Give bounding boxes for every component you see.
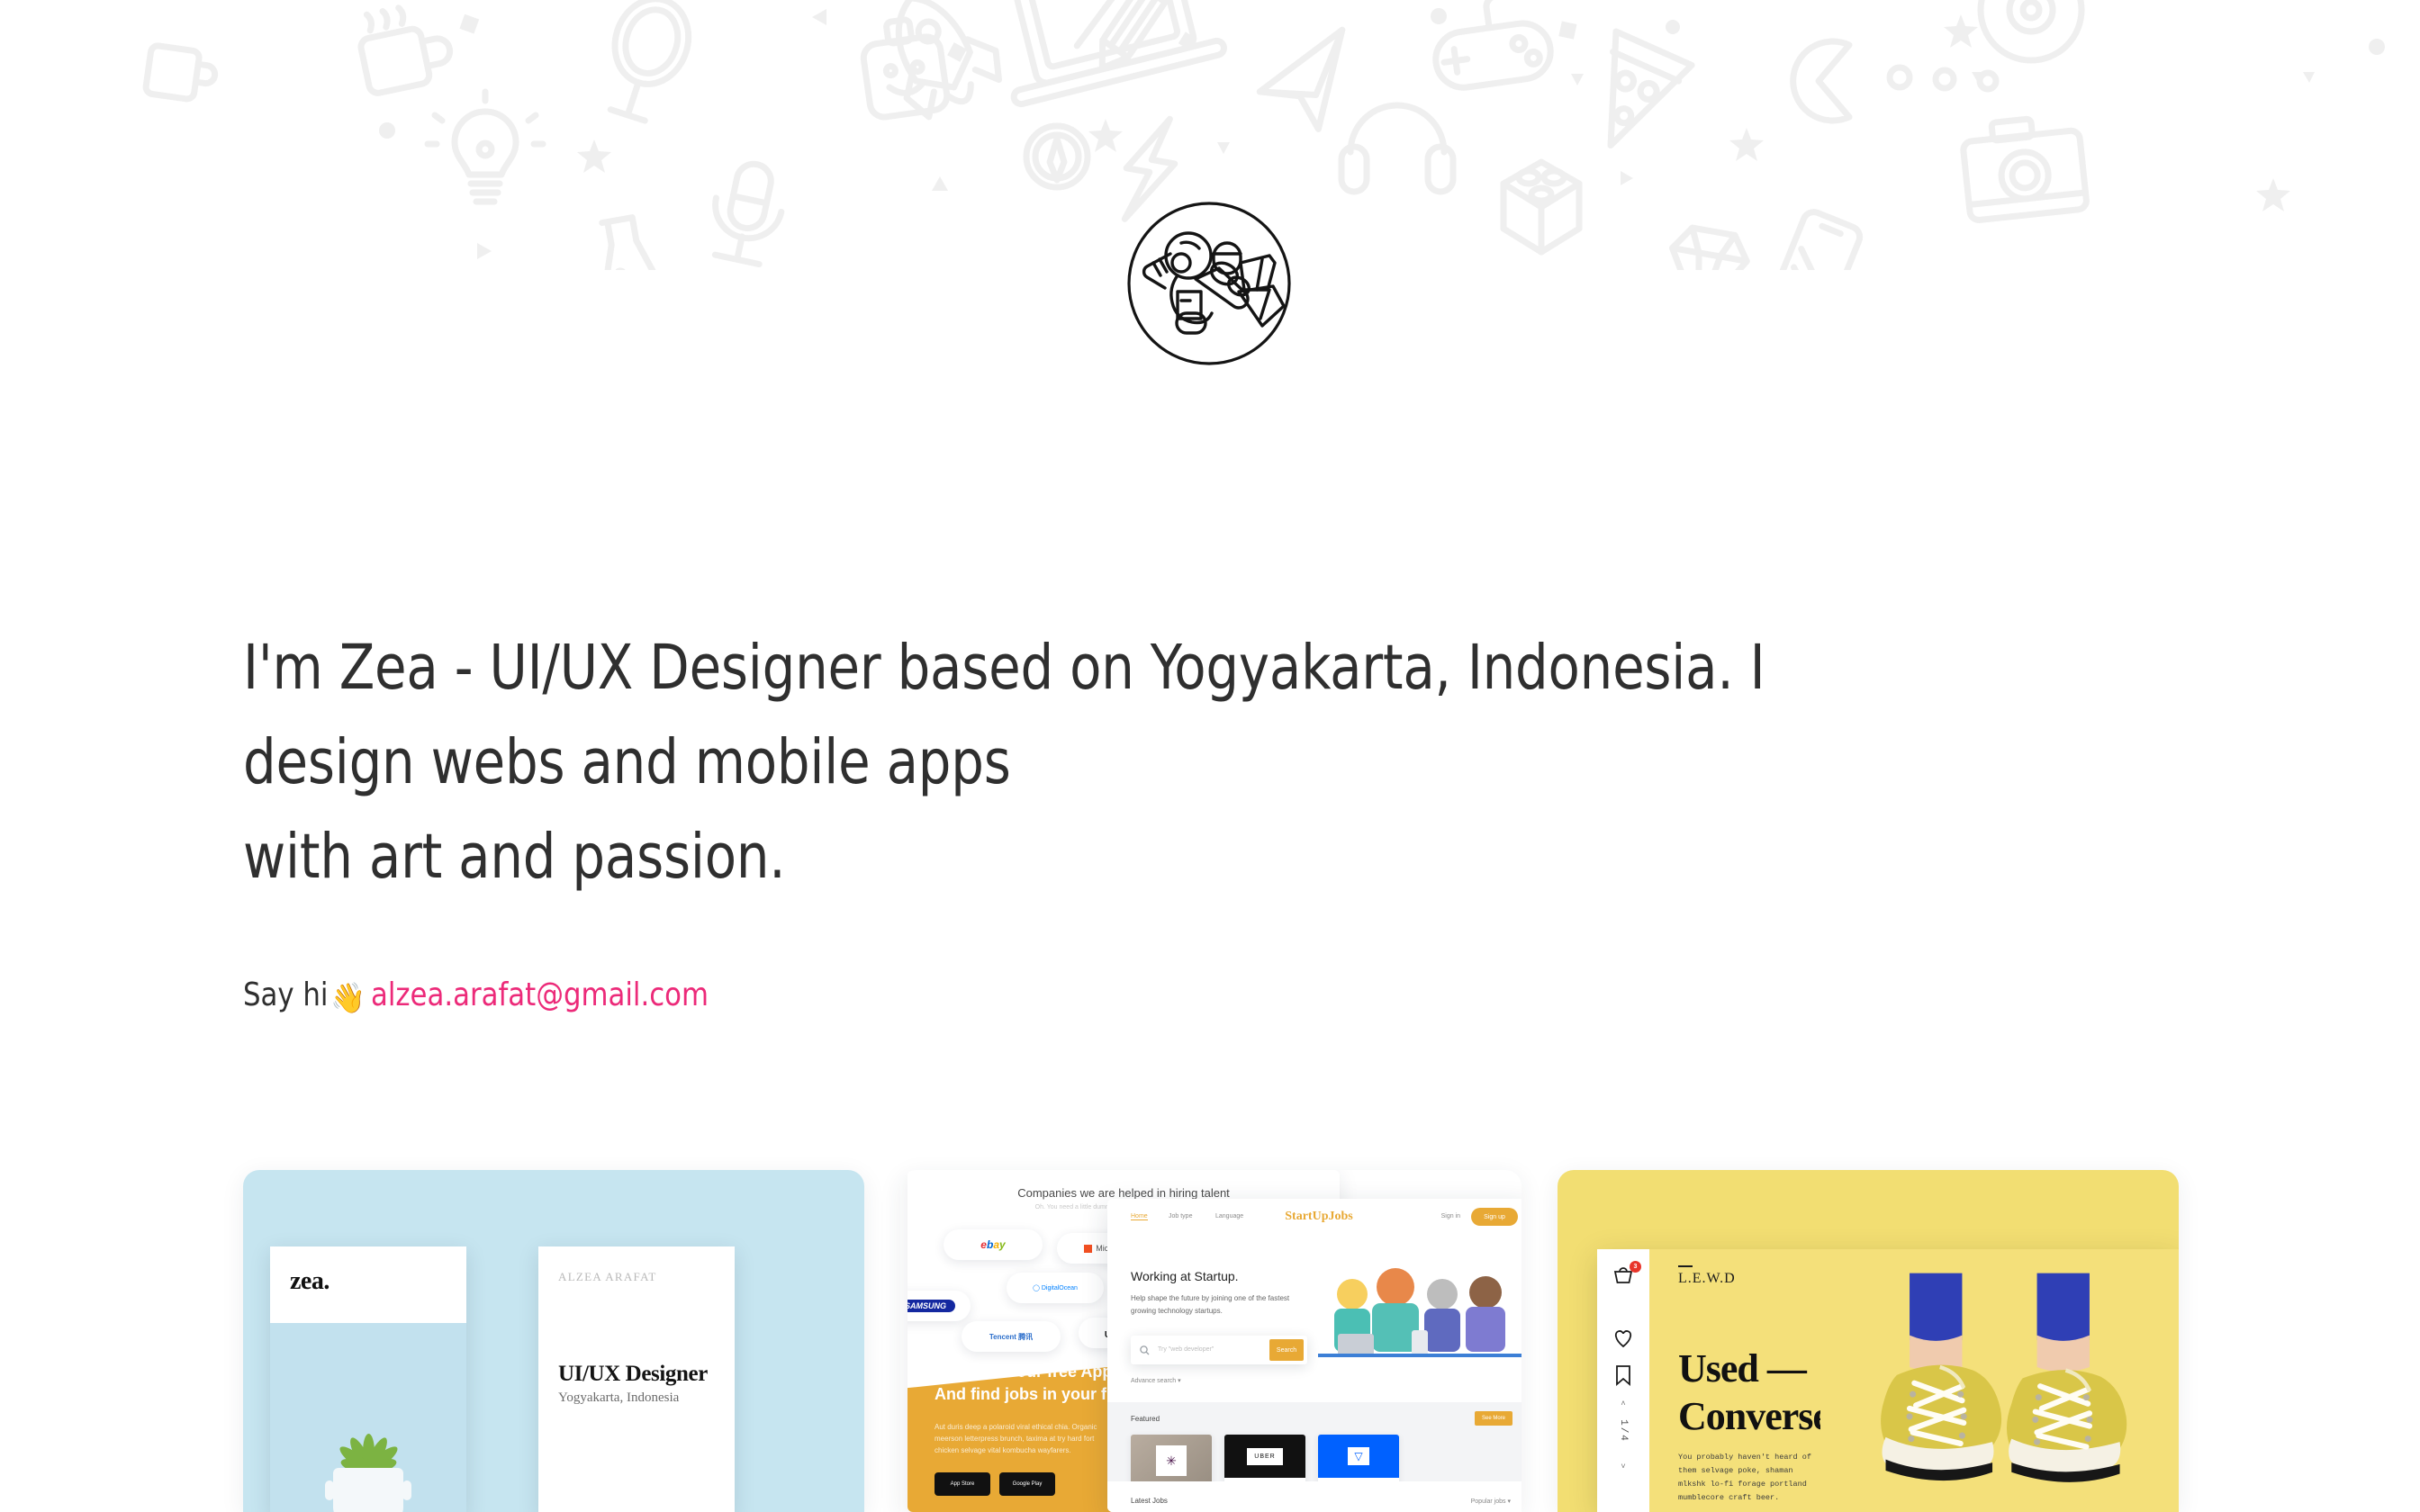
chevron-down-icon[interactable]: ˅ [1621, 1462, 1625, 1471]
search-placeholder: Try "web developer" [1158, 1346, 1214, 1353]
dot-icon [1431, 8, 1447, 24]
product-description: You probably haven't heard of them selva… [1678, 1451, 1813, 1505]
business-card-front: zea. [270, 1246, 466, 1512]
logo-pill-tencent: Tencent 腾讯 [962, 1321, 1061, 1352]
owner-role: UI/UX Designer [558, 1362, 708, 1387]
googleplay-button[interactable]: Google Play [999, 1472, 1055, 1496]
project-card-startupjobs[interactable]: Companies we are helped in hiring talent… [900, 1170, 1522, 1512]
compass-icon [1026, 126, 1088, 187]
email-link[interactable]: alzea.arafat@gmail.com [371, 976, 709, 1013]
latest-jobs-label: Latest Jobs [1131, 1497, 1168, 1505]
nav-home[interactable]: Home [1131, 1213, 1148, 1220]
project-card-branding[interactable]: zea. ALZEA ARAFAT UI/UX Designer Yogyaka… [243, 1170, 864, 1512]
see-more-button[interactable]: See More [1475, 1411, 1512, 1426]
search-button[interactable]: Search [1269, 1339, 1304, 1361]
page-title: I'm Zea - UI/UX Designer based on Yogyak… [243, 621, 2001, 904]
dot-icon [379, 122, 395, 139]
banner-body: Aut duris deep a polaroid viral ethical … [935, 1421, 1106, 1456]
cart-count-badge: 3 [1630, 1261, 1641, 1273]
logo-pill-ebay: ebay [944, 1229, 1043, 1260]
lightbulb-icon [428, 92, 543, 202]
hero-section: I'm Zea - UI/UX Designer based on Yogyak… [243, 621, 2134, 904]
gamepad-icon [1428, 0, 1554, 91]
triangle-icon [1217, 142, 1230, 154]
lego-brick-icon [1503, 162, 1579, 252]
wave-emoji-icon: 👋 [330, 980, 366, 1015]
slack-logo-icon: ✳ [1156, 1445, 1187, 1476]
cart-icon[interactable]: 3 [1612, 1265, 1634, 1291]
shop-sidebar: 3 ˄ 1/4 ˅ [1597, 1249, 1649, 1512]
triangle-icon [477, 243, 492, 259]
nav-signup-button[interactable]: Sign up [1471, 1208, 1518, 1226]
uber-logo-icon: UBER [1247, 1448, 1282, 1465]
zea-logo-text: zea. [290, 1267, 330, 1296]
nav-language[interactable]: Language [1215, 1213, 1243, 1219]
contact-line: Say hi👋alzea.arafat@gmail.com [243, 976, 709, 1018]
nav-jobtype[interactable]: Job type [1169, 1213, 1192, 1219]
team-illustration [1318, 1258, 1522, 1366]
rocket-icon [866, 0, 1009, 124]
triangle-icon [2303, 72, 2315, 83]
dot-icon [1936, 70, 1954, 88]
heart-icon[interactable] [1612, 1328, 1634, 1353]
star-icon [577, 139, 611, 173]
googleplay-label: Google Play [1013, 1481, 1043, 1487]
coffee-mug-icon [145, 45, 218, 103]
business-card-back: ALZEA ARAFAT UI/UX Designer Yogyakarta, … [538, 1246, 735, 1512]
job-thumbnail: UBER [1224, 1435, 1305, 1478]
headphones-icon [1341, 105, 1453, 192]
advance-search-label: Advance search [1131, 1378, 1176, 1384]
site-logo-text: StartUpJobs [1285, 1210, 1352, 1223]
bookmark-icon[interactable] [1615, 1364, 1631, 1390]
logo-pill-samsung: SAMSUNG [907, 1291, 971, 1321]
flask-icon [589, 214, 666, 270]
owner-location: Yogyakarta, Indonesia [558, 1390, 679, 1406]
hero-heading: Working at Startup. [1131, 1269, 1239, 1283]
square-icon [1558, 22, 1576, 40]
dot-icon [1980, 73, 1996, 89]
hero-body: Help shape the future by joining one of … [1131, 1292, 1302, 1318]
popular-jobs-select[interactable]: Popular jobs ▾ [1471, 1498, 1511, 1505]
dropbox-logo-icon: ▽ [1348, 1447, 1368, 1465]
chevron-up-icon[interactable]: ˄ [1621, 1399, 1625, 1408]
microphone-icon [705, 157, 790, 266]
appstore-label: App Store [951, 1481, 975, 1487]
mirror-icon [593, 0, 699, 126]
smartphone-icon [1766, 209, 1864, 270]
star-icon [2256, 178, 2290, 211]
search-icon [1140, 1345, 1150, 1355]
job-search-box[interactable]: Try "web developer" Search [1131, 1336, 1307, 1364]
project-card-grid: zea. ALZEA ARAFAT UI/UX Designer Yogyaka… [243, 1170, 2179, 1512]
shop-page-mockup: 3 ˄ 1/4 ˅ L.E.W.D Used — Converse. You p… [1597, 1249, 2179, 1512]
owner-name: ALZEA ARAFAT [558, 1270, 657, 1284]
product-heading: Used — Converse. [1678, 1345, 1838, 1440]
square-icon [459, 14, 479, 34]
appstore-button[interactable]: App Store [935, 1472, 990, 1496]
triangle-icon [1621, 171, 1633, 185]
startupjobs-page-mockup: Home Job type Language StartUpJobs Sign … [1107, 1199, 1522, 1512]
diamond-icon [1661, 225, 1750, 270]
popular-jobs-label: Popular jobs [1471, 1498, 1506, 1505]
coffee-mug-icon [355, 0, 456, 94]
pizza-icon [1573, 31, 1692, 162]
project-card-ecommerce[interactable]: 3 ˄ 1/4 ˅ L.E.W.D Used — Converse. You p… [1558, 1170, 2179, 1512]
logo-pill-digitalocean: ◯ DigitalOcean [1007, 1273, 1104, 1303]
triangle-icon [812, 9, 826, 25]
dot-icon [1666, 20, 1680, 34]
pacman-icon [1793, 41, 1849, 121]
triangle-icon [1571, 74, 1584, 85]
laptop-icon [987, 0, 1225, 105]
dot-icon [1890, 67, 1910, 87]
featured-label: Featured [1131, 1415, 1160, 1423]
camera-icon [1961, 113, 2087, 220]
shop-pagination: 1/4 [1618, 1419, 1629, 1443]
pot-shape [333, 1468, 403, 1512]
astronaut-badge-logo[interactable] [1125, 200, 1293, 367]
latest-jobs-bar [1107, 1481, 1522, 1512]
star-icon [1729, 128, 1764, 161]
plant-photo [270, 1323, 466, 1512]
vinyl-disc-icon [1981, 0, 2081, 60]
paper-plane-icon [1256, 30, 1349, 132]
site-navbar: Home Job type Language StartUpJobs Sign … [1107, 1199, 1522, 1237]
shop-brand-logo: L.E.W.D [1678, 1271, 1736, 1287]
nav-signin[interactable]: Sign in [1441, 1213, 1460, 1219]
companies-title: Companies we are helped in hiring talent [907, 1186, 1340, 1200]
dot-icon [2369, 39, 2385, 55]
advance-search-toggle[interactable]: Advance search ▾ [1131, 1377, 1181, 1384]
triangle-icon [932, 176, 948, 191]
converse-product-photo [1820, 1249, 2179, 1512]
star-icon [1088, 119, 1123, 152]
job-thumbnail: ▽ [1318, 1435, 1399, 1478]
say-hi-label: Say hi [243, 976, 328, 1013]
site-logo: StartUpJobs [1285, 1210, 1352, 1224]
star-icon [1944, 14, 1978, 48]
